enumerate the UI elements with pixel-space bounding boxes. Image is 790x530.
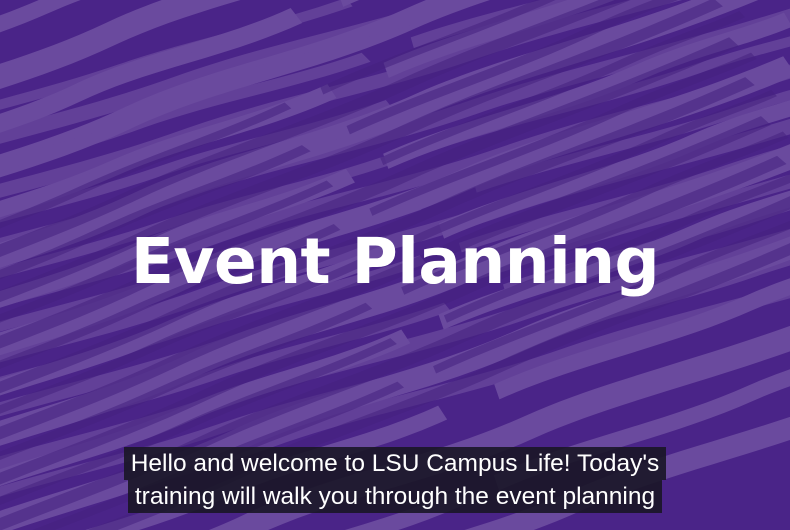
caption-line: training will walk you through the event… [128, 480, 662, 513]
caption-line: Hello and welcome to LSU Campus Life! To… [124, 447, 667, 480]
caption-overlay: Hello and welcome to LSU Campus Life! To… [0, 447, 790, 513]
video-slide: Event Planning Hello and welcome to LSU … [0, 0, 790, 530]
